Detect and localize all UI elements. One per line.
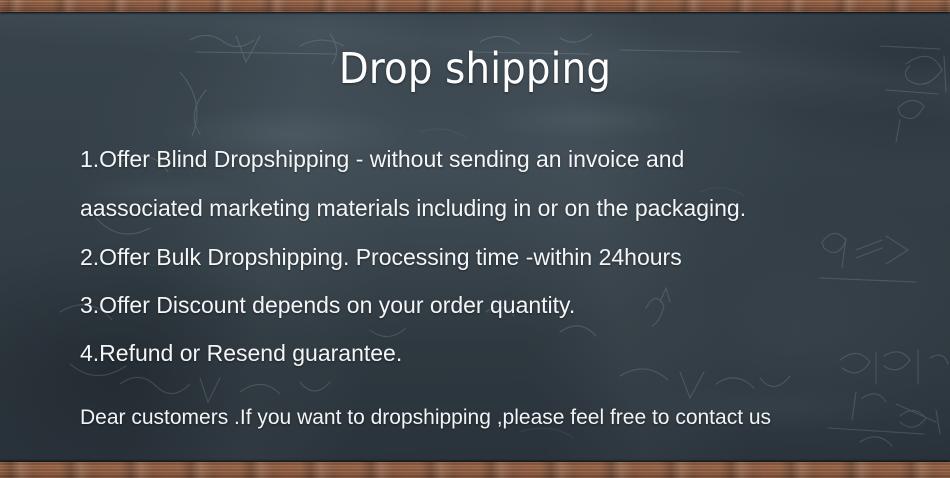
policy-list: 1.Offer Blind Dropshipping - without sen… (80, 135, 940, 377)
list-item: 1.Offer Blind Dropshipping - without sen… (80, 135, 940, 183)
closing-message: Dear customers .If you want to dropshipp… (80, 404, 940, 432)
list-item: 4.Refund or Resend guarantee. (80, 329, 940, 377)
wood-frame-top-icon (0, 0, 950, 12)
list-item: 3.Offer Discount depends on your order q… (80, 281, 940, 329)
list-item-continuation: aassociated marketing materials includin… (80, 183, 940, 233)
list-item: 2.Offer Bulk Dropshipping. Processing ti… (80, 233, 940, 281)
banner-content: Drop shipping 1.Offer Blind Dropshipping… (0, 12, 950, 462)
chalkboard-surface: Drop shipping 1.Offer Blind Dropshipping… (0, 12, 950, 462)
wood-frame-bottom-icon (0, 462, 950, 478)
dropshipping-banner: Drop shipping 1.Offer Blind Dropshipping… (0, 0, 950, 478)
page-title: Drop shipping (0, 43, 950, 95)
